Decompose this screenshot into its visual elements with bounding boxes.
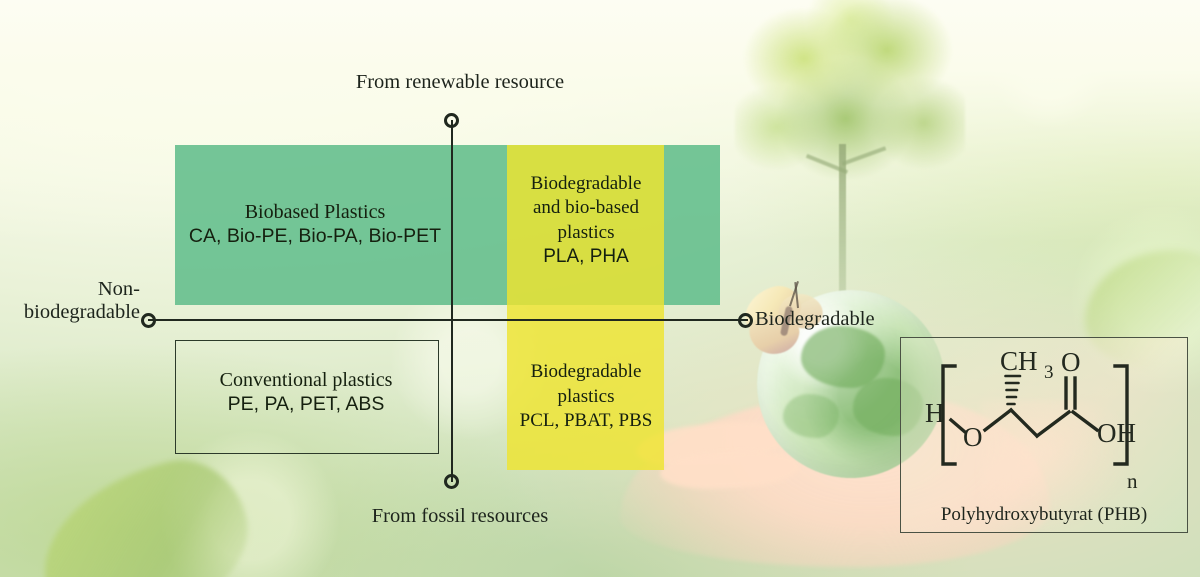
atom-label-ch3: CH [1000,346,1038,376]
quadrant-examples-bioboth: PLA, PHA [505,245,667,270]
molecule-caption: Polyhydroxybutyrat (PHB) [901,504,1187,526]
bracket-left-icon [943,366,955,464]
bond-ch2-carbonyl [1037,412,1069,436]
quadrant-title-biobased: Biobased Plastics [180,200,450,224]
quadrant-title-bioboth-line2: and bio-based [505,196,667,220]
axis-label-top: From renewable resource [340,71,580,94]
quadrant-title-biodeg-line1: Biodegradable [503,360,669,385]
quadrant-title-bioboth-line1: Biodegradable [505,172,667,196]
bond-o-c [985,410,1011,430]
bond-c-oh [1073,412,1097,430]
tree-illustration [735,0,965,304]
quadrant-text-conventional: Conventional plastics PE, PA, PET, ABS [180,368,432,416]
axis-label-left-line2: biodegradable [8,301,140,324]
atom-label-n: n [1127,469,1138,493]
tree-canopy [735,0,965,209]
stereo-hash-bond-icon [1006,376,1021,404]
quadrant-examples-conventional: PE, PA, PET, ABS [180,392,432,416]
quadrant-title-conventional: Conventional plastics [180,368,432,392]
bracket-right-icon [1115,366,1127,464]
bond-c-ch2 [1011,410,1037,436]
axis-endpoint-right [738,313,753,328]
molecule-panel-phb: H O CH 3 O OH n Polyhydroxybutyrat (PHB) [900,337,1188,533]
axis-endpoint-bottom [444,474,459,489]
horizontal-axis [148,319,748,321]
atom-label-oh: OH [1097,418,1136,448]
atom-label-o-ether: O [963,422,983,452]
axis-label-bottom: From fossil resources [345,505,575,528]
globe-continent [783,394,839,438]
quadrant-text-biobased: Biobased Plastics CA, Bio-PE, Bio-PA, Bi… [180,200,450,248]
quadrant-text-biodegradable-and-biobased: Biodegradable and bio-based plastics PLA… [505,172,667,270]
axis-label-left-line1: Non- [8,278,140,301]
quadrant-examples-biobased: CA, Bio-PE, Bio-PA, Bio-PET [180,224,450,248]
axis-label-right: Biodegradable [755,308,875,331]
atom-label-ch3-subscript: 3 [1044,362,1054,383]
axis-endpoint-left [141,313,156,328]
vertical-axis [451,120,453,482]
atom-label-h: H [925,398,945,428]
figure-canvas: From renewable resource From fossil reso… [0,0,1200,577]
atom-label-o-carbonyl: O [1061,347,1081,377]
axis-endpoint-top [444,113,459,128]
quadrant-examples-biodeg: PCL, PBAT, PBS [503,409,669,434]
quadrant-title-biodeg-line2: plastics [503,385,669,410]
axis-label-left: Non- biodegradable [8,278,140,324]
quadrant-text-biodegradable: Biodegradable plastics PCL, PBAT, PBS [503,360,669,434]
quadrant-title-bioboth-line3: plastics [505,221,667,245]
